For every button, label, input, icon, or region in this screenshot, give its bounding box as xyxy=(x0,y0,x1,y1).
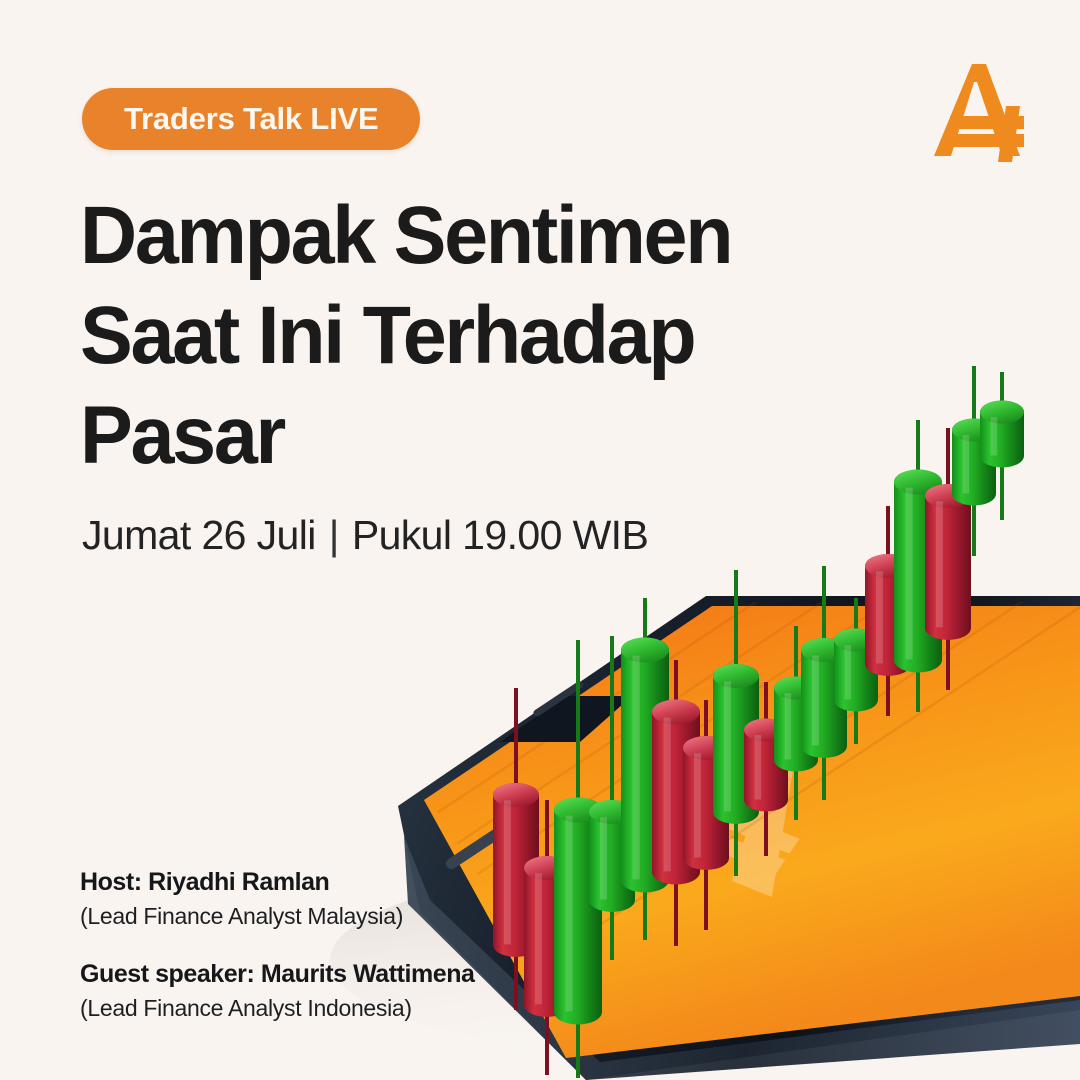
candle-top-cap xyxy=(980,401,1024,424)
candle-highlight xyxy=(566,816,573,1012)
candle-top-cap xyxy=(652,700,700,725)
candle-highlight xyxy=(504,800,511,944)
host-role: (Lead Finance Analyst Malaysia) xyxy=(80,900,475,932)
promo-poster: Traders Talk LIVE Dampak Sentimen Saat I… xyxy=(0,0,1080,1080)
host-name: Host: Riyadhi Ramlan xyxy=(80,866,475,898)
candle-highlight xyxy=(755,735,762,799)
candle-top-cap xyxy=(621,638,669,663)
candle-highlight xyxy=(694,753,701,857)
candle-highlight xyxy=(812,655,819,745)
candle-highlight xyxy=(876,571,883,663)
candle-highlight xyxy=(664,718,671,872)
candle-top-cap xyxy=(713,664,759,688)
candle-highlight xyxy=(936,501,943,627)
candle-highlight xyxy=(785,693,792,759)
guest-name: Guest speaker: Maurits Wattimena xyxy=(80,958,475,990)
candle-highlight xyxy=(963,435,970,493)
candle-top-cap xyxy=(493,783,539,807)
candle-highlight xyxy=(906,488,913,660)
candle-highlight xyxy=(600,817,607,899)
candle-highlight xyxy=(991,417,998,455)
candle-highlight xyxy=(535,873,542,1004)
guest-role: (Lead Finance Analyst Indonesia) xyxy=(80,992,475,1024)
candle-highlight xyxy=(633,656,640,880)
guest-credit: Guest speaker: Maurits Wattimena (Lead F… xyxy=(80,958,475,1024)
candle-highlight xyxy=(724,681,731,811)
candle-highlight xyxy=(845,645,852,699)
speaker-credits: Host: Riyadhi Ramlan (Lead Finance Analy… xyxy=(80,866,475,1024)
host-credit: Host: Riyadhi Ramlan (Lead Finance Analy… xyxy=(80,866,475,932)
